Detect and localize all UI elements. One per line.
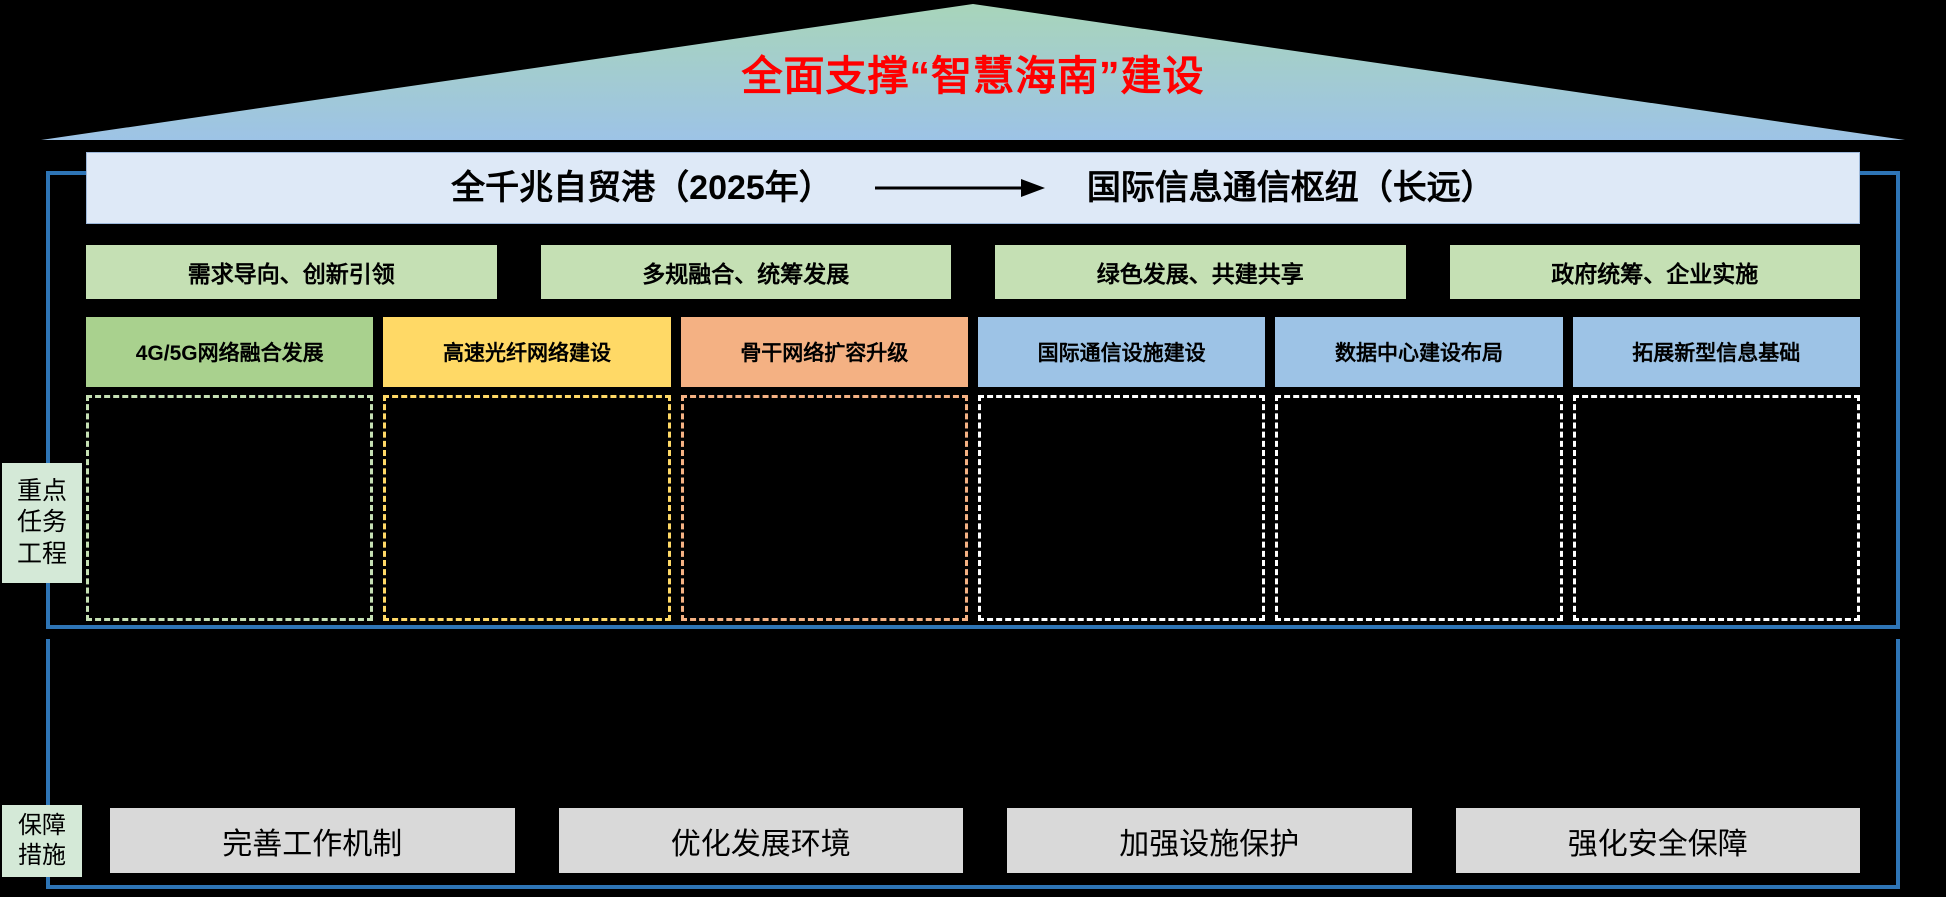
diagram-canvas: 全面支撑“智慧海南”建设 全千兆自贸港（2025年） 国际信息通信枢纽（长远） … [0,0,1946,897]
pillar-column-2: 高速光纤网络建设 [383,317,670,621]
pillar-body-1 [86,395,373,621]
vision-long-term-goal: 国际信息通信枢纽（长远） [1087,171,1495,205]
vision-near-term-goal: 全千兆自贸港（2025年） [451,171,833,205]
frame-lower-right-rail [1896,639,1900,889]
guarantee-item-4: 强化安全保障 [1456,808,1861,873]
page-title: 全面支撑“智慧海南”建设 [41,56,1905,97]
side-label-guarantee-measures: 保障 措施 [2,805,82,877]
guarantee-item-3: 加强设施保护 [1007,808,1412,873]
pillar-column-4: 国际通信设施建设 [978,317,1265,621]
side-label-tasks-line-2: 任务 [17,507,67,538]
side-label-measures-line-2: 措施 [18,841,66,871]
side-label-key-tasks: 重点 任务 工程 [2,463,82,583]
roof-shape: 全面支撑“智慧海南”建设 [41,4,1905,140]
frame-bottom-rail [46,625,1900,629]
principle-item-1: 需求导向、创新引领 [86,245,497,299]
guarantee-item-2: 优化发展环境 [559,808,964,873]
pillar-head-6[interactable]: 拓展新型信息基础 [1573,317,1860,387]
pillar-body-6 [1573,395,1860,621]
pillar-body-4 [978,395,1265,621]
pillar-body-5 [1275,395,1562,621]
pillar-column-3: 骨干网络扩容升级 [681,317,968,621]
principle-item-4: 政府统筹、企业实施 [1450,245,1861,299]
right-arrow-icon [875,179,1045,197]
pillar-body-3 [681,395,968,621]
frame-right-rail [1896,171,1900,629]
vision-banner: 全千兆自贸港（2025年） 国际信息通信枢纽（长远） [86,152,1860,224]
side-label-tasks-line-3: 工程 [17,539,67,570]
pillar-head-5[interactable]: 数据中心建设布局 [1275,317,1562,387]
pillar-column-1: 4G/5G网络融合发展 [86,317,373,621]
pillar-head-4[interactable]: 国际通信设施建设 [978,317,1265,387]
pillars-row: 4G/5G网络融合发展 高速光纤网络建设 骨干网络扩容升级 国际通信设施建设 数… [86,317,1860,621]
guarantee-row: 完善工作机制 优化发展环境 加强设施保护 强化安全保障 [110,808,1860,873]
principle-item-3: 绿色发展、共建共享 [995,245,1406,299]
frame-lower-bottom-rail [46,885,1900,889]
principle-item-2: 多规融合、统筹发展 [541,245,952,299]
pillar-column-6: 拓展新型信息基础 [1573,317,1860,621]
pillar-column-5: 数据中心建设布局 [1275,317,1562,621]
pillar-head-1[interactable]: 4G/5G网络融合发展 [86,317,373,387]
guarantee-item-1: 完善工作机制 [110,808,515,873]
pillar-head-2[interactable]: 高速光纤网络建设 [383,317,670,387]
side-label-tasks-line-1: 重点 [17,476,67,507]
principles-row: 需求导向、创新引领 多规融合、统筹发展 绿色发展、共建共享 政府统筹、企业实施 [86,245,1860,299]
side-label-measures-line-1: 保障 [18,811,66,841]
pillar-body-2 [383,395,670,621]
pillar-head-3[interactable]: 骨干网络扩容升级 [681,317,968,387]
